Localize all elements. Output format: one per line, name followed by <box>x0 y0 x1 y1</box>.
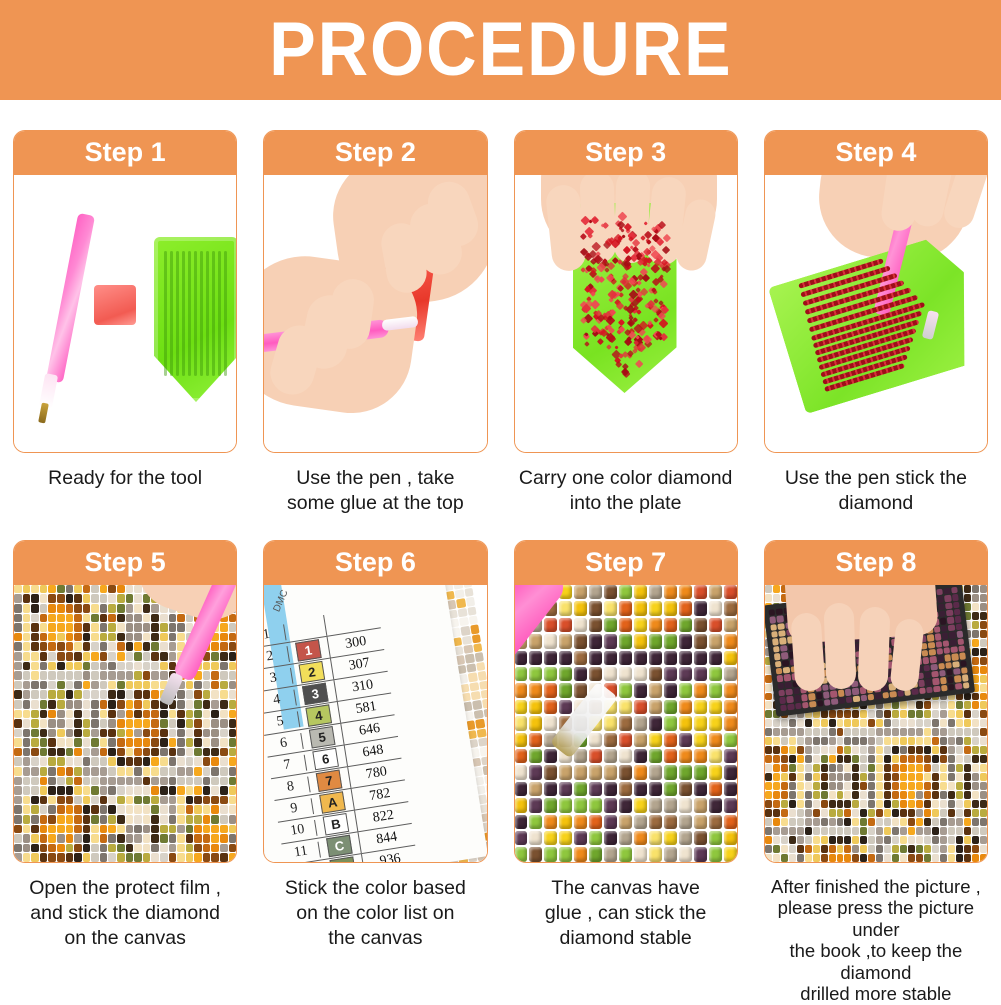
diamond-bead <box>194 729 202 738</box>
diamond-bead <box>765 737 772 745</box>
diamond-bead <box>980 639 987 647</box>
diamond-bead <box>948 737 955 745</box>
diamond-bead <box>574 798 587 812</box>
diamond-bead <box>83 642 91 651</box>
diamond-bead <box>837 791 844 799</box>
diamond-bead <box>108 710 116 719</box>
diamond-bead <box>789 746 796 754</box>
diamond-bead <box>664 831 677 845</box>
diamond-bead <box>943 647 950 654</box>
diamond-bead <box>57 671 65 680</box>
diamond-bead <box>143 700 151 709</box>
diamond-bead <box>117 786 125 795</box>
diamond-bead <box>48 825 56 834</box>
diamond-bead <box>916 836 923 844</box>
diamond-bead <box>229 796 237 805</box>
diamond-bead <box>186 834 194 843</box>
diamond-bead <box>664 847 677 861</box>
diamond-bead <box>117 623 125 632</box>
diamond-bead <box>884 845 891 853</box>
diamond-bead <box>797 809 804 817</box>
diamond-bead <box>908 719 915 727</box>
legend-index: 11 <box>282 841 321 862</box>
diamond-bead <box>916 764 923 772</box>
diamond-bead <box>211 662 219 671</box>
diamond-bead <box>143 729 151 738</box>
diamond-bead <box>962 682 969 689</box>
diamond-bead <box>940 818 947 826</box>
diamond-bead <box>91 853 99 862</box>
diamond-bead <box>134 796 142 805</box>
diamond-bead <box>926 686 933 693</box>
diamond-bead <box>980 630 987 638</box>
diamond-bead <box>972 854 979 862</box>
diamond-bead <box>48 710 56 719</box>
diamond-bead <box>908 782 915 790</box>
diamond-bead <box>589 585 602 599</box>
diamond-bead <box>57 748 65 757</box>
diamond-bead <box>789 773 796 781</box>
diamond-bead <box>948 624 955 631</box>
diamond-bead <box>876 719 883 727</box>
diamond-bead <box>916 728 923 736</box>
diamond-bead <box>31 594 39 603</box>
diamond-bead <box>57 642 65 651</box>
diamond-bead <box>954 675 961 682</box>
diamond-bead <box>765 693 772 701</box>
diamond-bead <box>480 689 487 699</box>
legend-index: 9 <box>275 798 314 820</box>
diamond-bead <box>884 737 891 745</box>
diamond-bead <box>474 652 484 662</box>
diamond-bead <box>66 796 74 805</box>
diamond-bead <box>143 853 151 862</box>
diamond-bead <box>194 844 202 853</box>
diamond-bead <box>100 767 108 776</box>
diamond-bead <box>31 700 39 709</box>
diamond-bead <box>634 585 647 599</box>
diamond-bead <box>932 818 939 826</box>
diamond-bead <box>664 782 677 796</box>
diamond-bead <box>923 664 930 671</box>
diamond-bead <box>724 700 737 714</box>
diamond-bead <box>83 671 91 680</box>
diamond-bead <box>765 755 772 763</box>
diamond-bead <box>771 631 778 638</box>
diamond-bead <box>48 662 56 671</box>
diamond-bead <box>773 845 780 853</box>
diamond-bead <box>948 755 955 763</box>
diamond-bead <box>813 800 820 808</box>
diamond-bead <box>829 728 836 736</box>
diamond-bead <box>813 737 820 745</box>
diamond-bead <box>980 710 987 718</box>
diamond-bead <box>649 847 662 861</box>
diamond-bead <box>203 738 211 747</box>
diamond-bead <box>972 621 979 629</box>
diamond-bead <box>100 853 108 862</box>
diamond-bead <box>980 612 987 620</box>
diamond-bead <box>126 815 134 824</box>
step-cell-1: Step 1 Ready for the tool <box>0 100 250 516</box>
diamond-bead <box>203 729 211 738</box>
diamond-bead <box>837 719 844 727</box>
diamond-bead <box>23 844 31 853</box>
diamond-bead <box>777 682 784 689</box>
diamond-bead <box>694 585 707 599</box>
diamond-bead <box>679 667 692 681</box>
diamond-bead <box>74 623 82 632</box>
diamond-bead <box>876 854 883 862</box>
diamond-bead <box>100 719 108 728</box>
diamond-bead <box>619 815 632 829</box>
diamond-bead <box>559 651 572 665</box>
diamond-bead <box>813 827 820 835</box>
diamond-bead <box>724 831 737 845</box>
diamond-bead <box>837 755 844 763</box>
diamond-bead <box>160 805 168 814</box>
diamond-bead <box>100 614 108 623</box>
diamond-bead <box>211 815 219 824</box>
diamond-bead <box>778 689 785 696</box>
diamond-bead <box>83 594 91 603</box>
diamond-bead <box>160 652 168 661</box>
diamond-bead <box>169 652 177 661</box>
diamond-bead <box>765 728 772 736</box>
diamond-bead <box>194 719 202 728</box>
diamond-bead <box>66 786 74 795</box>
diamond-bead <box>66 652 74 661</box>
diamond-bead <box>220 815 228 824</box>
diamond-bead <box>900 845 907 853</box>
diamond-bead <box>916 782 923 790</box>
diamond-bead <box>529 683 542 697</box>
diamond-bead <box>924 746 931 754</box>
diamond-bead <box>40 671 48 680</box>
diamond-bead <box>559 815 572 829</box>
diamond-bead <box>134 786 142 795</box>
diamond-bead <box>956 773 963 781</box>
diamond-bead <box>781 728 788 736</box>
diamond-bead <box>66 585 74 594</box>
diamond-bead <box>860 728 867 736</box>
diamond-bead <box>884 809 891 817</box>
diamond-bead <box>574 847 587 861</box>
diamond-bead <box>589 847 602 861</box>
diamond-bead <box>724 765 737 779</box>
diamond-bead <box>40 594 48 603</box>
diamond-bead <box>634 651 647 665</box>
diamond-bead <box>765 791 772 799</box>
diamond-bead <box>927 634 934 641</box>
diamond-bead <box>604 831 617 845</box>
diamond-bead <box>134 805 142 814</box>
diamond-bead <box>949 631 956 638</box>
diamond-bead <box>821 827 828 835</box>
diamond-bead <box>169 815 177 824</box>
diamond-bead <box>972 836 979 844</box>
diamond-bead <box>980 666 987 674</box>
diamond-bead <box>544 798 557 812</box>
diamond-bead <box>31 623 39 632</box>
diamond-bead <box>773 836 780 844</box>
diamond-bead <box>924 728 931 736</box>
diamond-bead <box>48 671 56 680</box>
diamond-bead <box>186 767 194 776</box>
diamond-bead <box>48 719 56 728</box>
diamond-bead <box>529 831 542 845</box>
diamond-bead <box>844 755 851 763</box>
diamond-bead <box>74 777 82 786</box>
finger <box>857 606 890 691</box>
diamond-bead <box>679 585 692 599</box>
diamond-bead <box>972 701 979 709</box>
diamond-bead <box>186 786 194 795</box>
diamond-bead <box>74 710 82 719</box>
diamond-bead <box>972 791 979 799</box>
diamond-bead <box>649 601 662 615</box>
diamond-bead <box>203 853 211 862</box>
diamond-bead <box>868 854 875 862</box>
diamond-bead <box>48 757 56 766</box>
diamond-bead <box>211 681 219 690</box>
diamond-bead <box>789 764 796 772</box>
diamond-bead <box>100 594 108 603</box>
diamond-bead <box>151 623 159 632</box>
diamond-bead <box>515 815 528 829</box>
diamond-bead <box>924 836 931 844</box>
diamond-bead <box>724 749 737 763</box>
diamond-bead <box>57 844 65 853</box>
diamond-bead <box>48 690 56 699</box>
diamond-bead <box>884 818 891 826</box>
diamond-bead <box>773 585 780 593</box>
diamond-bead <box>679 601 692 615</box>
diamond-bead <box>940 782 947 790</box>
diamond-bead <box>852 737 859 745</box>
diamond-bead <box>924 791 931 799</box>
diamond-bead <box>143 825 151 834</box>
diamond-bead <box>972 710 979 718</box>
diamond-bead <box>529 798 542 812</box>
diamond-bead <box>83 681 91 690</box>
diamond-bead <box>980 746 987 754</box>
diamond-bead <box>876 800 883 808</box>
diamond-bead <box>151 642 159 651</box>
diamond-bead <box>220 825 228 834</box>
diamond-bead <box>194 796 202 805</box>
diamond-bead <box>773 746 780 754</box>
diamond-bead <box>169 710 177 719</box>
diamond-bead <box>143 681 151 690</box>
diamond-bead <box>765 764 772 772</box>
diamond-bead <box>160 815 168 824</box>
diamond-bead <box>837 773 844 781</box>
step-caption-3: Carry one color diamond into the plate <box>517 466 735 516</box>
diamond-bead <box>143 757 151 766</box>
diamond-bead <box>66 844 74 853</box>
diamond-bead <box>220 623 228 632</box>
diamond-bead <box>797 737 804 745</box>
diamond-bead <box>66 825 74 834</box>
diamond-bead <box>203 786 211 795</box>
diamond-bead <box>74 825 82 834</box>
diamond-bead <box>559 700 572 714</box>
diamond-bead <box>604 847 617 861</box>
diamond-bead <box>456 598 466 608</box>
diamond-bead <box>868 764 875 772</box>
diamond-bead <box>126 844 134 853</box>
diamond-bead <box>956 791 963 799</box>
diamond-bead <box>852 845 859 853</box>
diamond-bead <box>932 701 939 709</box>
diamond-bead <box>930 663 937 670</box>
diamond-bead <box>108 585 116 594</box>
diamond-bead <box>679 634 692 648</box>
diamond-bead <box>91 652 99 661</box>
diamond-bead <box>48 748 56 757</box>
diamond-bead <box>40 700 48 709</box>
diamond-bead <box>203 748 211 757</box>
diamond-bead <box>57 652 65 661</box>
diamond-bead <box>619 585 632 599</box>
diamond-bead <box>23 585 31 594</box>
diamond-bead <box>776 608 783 615</box>
diamond-bead <box>813 773 820 781</box>
diamond-bead <box>529 700 542 714</box>
diamond-bead <box>972 666 979 674</box>
diamond-bead <box>829 782 836 790</box>
diamond-bead <box>169 853 177 862</box>
diamond-bead <box>186 777 194 786</box>
diamond-bead <box>476 728 486 738</box>
diamond-bead <box>649 716 662 730</box>
diamond-bead <box>151 786 159 795</box>
diamond-bead <box>40 652 48 661</box>
step-image-2 <box>264 175 486 452</box>
diamond-bead <box>100 662 108 671</box>
diamond-bead <box>57 681 65 690</box>
diamond-bead <box>664 667 677 681</box>
diamond-bead <box>478 680 486 690</box>
diamond-bead <box>100 738 108 747</box>
diamond-bead <box>66 777 74 786</box>
diamond-bead <box>932 809 939 817</box>
diamond-bead <box>794 695 801 702</box>
diamond-bead <box>66 633 74 642</box>
diamond-bead <box>604 618 617 632</box>
diamond-bead <box>649 634 662 648</box>
diamond-bead <box>14 767 22 776</box>
diamond-bead <box>220 834 228 843</box>
diamond-bead <box>74 633 82 642</box>
diamond-bead <box>160 614 168 623</box>
diamond-bead <box>980 728 987 736</box>
diamond-bead <box>126 767 134 776</box>
diamond-bead <box>972 737 979 745</box>
diamond-bead <box>634 618 647 632</box>
diamond-bead <box>952 661 959 668</box>
diamond-bead <box>916 818 923 826</box>
diamond-bead <box>948 782 955 790</box>
diamond-bead <box>31 642 39 651</box>
diamond-bead <box>169 786 177 795</box>
diamond-bead <box>66 834 74 843</box>
diamond-bead <box>765 684 772 692</box>
diamond-bead <box>229 710 237 719</box>
diamond-bead <box>40 844 48 853</box>
step-header-5: Step 5 <box>14 541 236 585</box>
diamond-bead <box>48 652 56 661</box>
diamond-bead <box>900 773 907 781</box>
diamond-bead <box>83 652 91 661</box>
diamond-bead <box>559 683 572 697</box>
diamond-bead <box>143 642 151 651</box>
diamond-bead <box>117 671 125 680</box>
diamond-bead <box>134 767 142 776</box>
diamond-bead <box>74 614 82 623</box>
diamond-bead <box>932 854 939 862</box>
diamond-bead <box>664 798 677 812</box>
diamond-bead <box>860 818 867 826</box>
diamond-bead <box>797 836 804 844</box>
diamond-bead <box>783 667 790 674</box>
diamond-bead <box>475 662 485 672</box>
diamond-bead <box>169 719 177 728</box>
diamond-bead <box>679 798 692 812</box>
diamond-bead <box>860 782 867 790</box>
diamond-bead <box>619 667 632 681</box>
diamond-bead <box>177 805 185 814</box>
diamond-bead <box>23 681 31 690</box>
diamond-bead <box>868 782 875 790</box>
diamond-bead <box>797 800 804 808</box>
diamond-bead <box>83 805 91 814</box>
diamond-bead <box>134 777 142 786</box>
diamond-bead <box>14 690 22 699</box>
diamond-bead <box>876 728 883 736</box>
diamond-bead <box>916 845 923 853</box>
diamond-bead <box>604 667 617 681</box>
diamond-bead <box>151 652 159 661</box>
diamond-bead <box>956 782 963 790</box>
diamond-bead <box>980 809 987 817</box>
diamond-bead <box>765 782 772 790</box>
diamond-bead <box>544 634 557 648</box>
diamond-bead <box>529 733 542 747</box>
diamond-bead <box>117 585 125 594</box>
diamond-bead <box>918 687 925 694</box>
diamond-bead <box>860 773 867 781</box>
diamond-bead <box>14 604 22 613</box>
diamond-bead <box>117 805 125 814</box>
diamond-bead <box>797 782 804 790</box>
diamond-bead <box>709 733 722 747</box>
diamond-bead <box>980 657 987 665</box>
diamond-bead <box>66 662 74 671</box>
diamond-bead <box>929 649 936 656</box>
diamond-bead <box>108 786 116 795</box>
diamond-bead <box>160 719 168 728</box>
step-caption-7: The canvas have glue , can stick the dia… <box>543 876 709 951</box>
step-cell-8: Step 8 After finished the picture , plea… <box>751 516 1001 1005</box>
diamond-bead <box>813 809 820 817</box>
diamond-bead <box>211 738 219 747</box>
diamond-bead <box>117 614 125 623</box>
diamond-bead <box>559 831 572 845</box>
diamond-bead <box>160 767 168 776</box>
diamond-bead <box>773 728 780 736</box>
